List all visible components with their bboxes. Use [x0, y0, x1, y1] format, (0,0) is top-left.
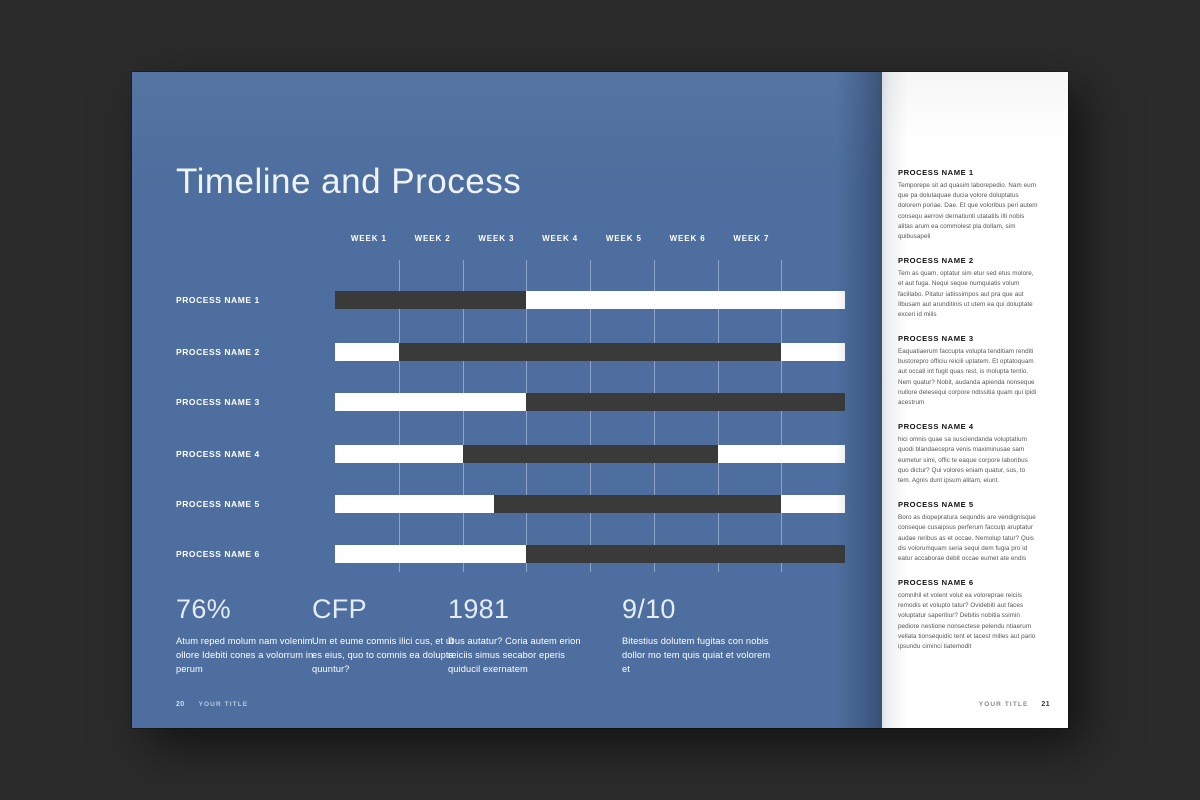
gantt-bar-segment-5-2[interactable]	[494, 495, 781, 513]
gantt-bar-segment-4-2[interactable]	[463, 445, 718, 463]
sidebar-heading-5: PROCESS NAME 5	[898, 500, 1038, 509]
gantt-bar-segment-3-2[interactable]	[526, 393, 845, 411]
sidebar-body-3: Eaquatiaerum faccupta volupta tenditiam …	[898, 347, 1038, 408]
sidebar-heading-4: PROCESS NAME 4	[898, 422, 1038, 431]
gantt-row-label-1: PROCESS NAME 1	[176, 295, 260, 305]
gantt-row-label-3: PROCESS NAME 3	[176, 397, 260, 407]
gantt-bar-segment-2-1[interactable]	[335, 343, 399, 361]
gantt-row-label-4: PROCESS NAME 4	[176, 449, 260, 459]
gantt-row: PROCESS NAME 6	[132, 545, 882, 563]
gantt-row-label-6: PROCESS NAME 6	[176, 549, 260, 559]
sidebar-body-1: Temporepe sit ad quasim laborepedio. Nam…	[898, 181, 1038, 242]
right-page: PROCESS NAME 1Temporepe sit ad quasim la…	[882, 72, 1068, 728]
sidebar-heading-2: PROCESS NAME 2	[898, 256, 1038, 265]
week-label-7: WEEK 7	[733, 234, 769, 243]
sidebar-block-2: PROCESS NAME 2Tem as quam, optatur sim e…	[898, 256, 1038, 320]
stat-value-4: 9/10	[622, 596, 772, 623]
gantt-row: PROCESS NAME 4	[132, 445, 882, 463]
sidebar-block-6: PROCESS NAME 6comnihil et volent volut e…	[898, 578, 1038, 652]
sidebar-block-3: PROCESS NAME 3Eaquatiaerum faccupta volu…	[898, 334, 1038, 408]
right-page-number: 21	[1041, 701, 1050, 708]
gantt-bar-segment-1-1[interactable]	[335, 291, 526, 309]
right-footer-title: YOUR TITLE	[979, 701, 1029, 708]
screenshot-canvas: Timeline and Process WEEK 1WEEK 2WEEK 3W…	[0, 0, 1200, 800]
gantt-bar-segment-2-3[interactable]	[781, 343, 845, 361]
sidebar-heading-6: PROCESS NAME 6	[898, 578, 1038, 587]
gantt-bar-segment-6-2[interactable]	[526, 545, 845, 563]
week-label-5: WEEK 5	[606, 234, 642, 243]
stat-description-2: Um et eume comnis ilici cus, et ut es ei…	[312, 634, 462, 676]
gantt-row: PROCESS NAME 2	[132, 343, 882, 361]
sidebar-block-5: PROCESS NAME 5Boro as diopepratura sequn…	[898, 500, 1038, 564]
gantt-row: PROCESS NAME 5	[132, 495, 882, 513]
process-description-sidebar: PROCESS NAME 1Temporepe sit ad quasim la…	[898, 168, 1038, 666]
sidebar-block-4: PROCESS NAME 4hici omnis quae sa suscien…	[898, 422, 1038, 486]
sidebar-block-1: PROCESS NAME 1Temporepe sit ad quasim la…	[898, 168, 1038, 242]
stat-description-1: Atum reped molum nam volenim ollore Ideb…	[176, 634, 326, 676]
gantt-row: PROCESS NAME 1	[132, 291, 882, 309]
stat-value-1: 76%	[176, 596, 326, 623]
week-label-4: WEEK 4	[542, 234, 578, 243]
gantt-bar-segment-5-1[interactable]	[335, 495, 494, 513]
left-page-number: 20	[176, 701, 185, 708]
stat-description-3: Dus autatur? Coria autem erion reiciis s…	[448, 634, 598, 676]
stat-item-4: 9/10Bitestius dolutem fugitas con nobis …	[622, 596, 772, 676]
gantt-row-label-5: PROCESS NAME 5	[176, 499, 260, 509]
left-page: Timeline and Process WEEK 1WEEK 2WEEK 3W…	[132, 72, 882, 728]
sidebar-body-4: hici omnis quae sa susciendanda voluptat…	[898, 435, 1038, 486]
stat-value-3: 1981	[448, 596, 598, 623]
sidebar-body-5: Boro as diopepratura sequndis are vendig…	[898, 513, 1038, 564]
left-footer-title: YOUR TITLE	[199, 701, 249, 708]
week-label-2: WEEK 2	[415, 234, 451, 243]
gantt-bar-segment-3-1[interactable]	[335, 393, 526, 411]
stat-item-1: 76%Atum reped molum nam volenim ollore I…	[176, 596, 326, 676]
gantt-bar-segment-5-3[interactable]	[781, 495, 845, 513]
gantt-bar-segment-6-1[interactable]	[335, 545, 526, 563]
gantt-row-label-2: PROCESS NAME 2	[176, 347, 260, 357]
stat-item-3: 1981Dus autatur? Coria autem erion reici…	[448, 596, 598, 676]
week-label-1: WEEK 1	[351, 234, 387, 243]
sidebar-body-6: comnihil et volent volut ea voloreprae r…	[898, 591, 1038, 652]
week-label-6: WEEK 6	[670, 234, 706, 243]
sidebar-body-2: Tem as quam, optatur sim etur sed etus m…	[898, 269, 1038, 320]
stat-description-4: Bitestius dolutem fugitas con nobis doll…	[622, 634, 772, 676]
right-page-footer: YOUR TITLE 21	[979, 701, 1050, 708]
gantt-bar-segment-4-3[interactable]	[718, 445, 846, 463]
stat-value-2: CFP	[312, 596, 462, 623]
sidebar-heading-3: PROCESS NAME 3	[898, 334, 1038, 343]
magazine-spread: Timeline and Process WEEK 1WEEK 2WEEK 3W…	[132, 72, 1068, 728]
gantt-bar-segment-2-2[interactable]	[399, 343, 782, 361]
left-page-footer: 20 YOUR TITLE	[176, 701, 248, 708]
sidebar-heading-1: PROCESS NAME 1	[898, 168, 1038, 177]
week-label-3: WEEK 3	[478, 234, 514, 243]
stat-item-2: CFPUm et eume comnis ilici cus, et ut es…	[312, 596, 462, 676]
gantt-bar-segment-4-1[interactable]	[335, 445, 463, 463]
gantt-row: PROCESS NAME 3	[132, 393, 882, 411]
gantt-bar-segment-1-2[interactable]	[526, 291, 845, 309]
